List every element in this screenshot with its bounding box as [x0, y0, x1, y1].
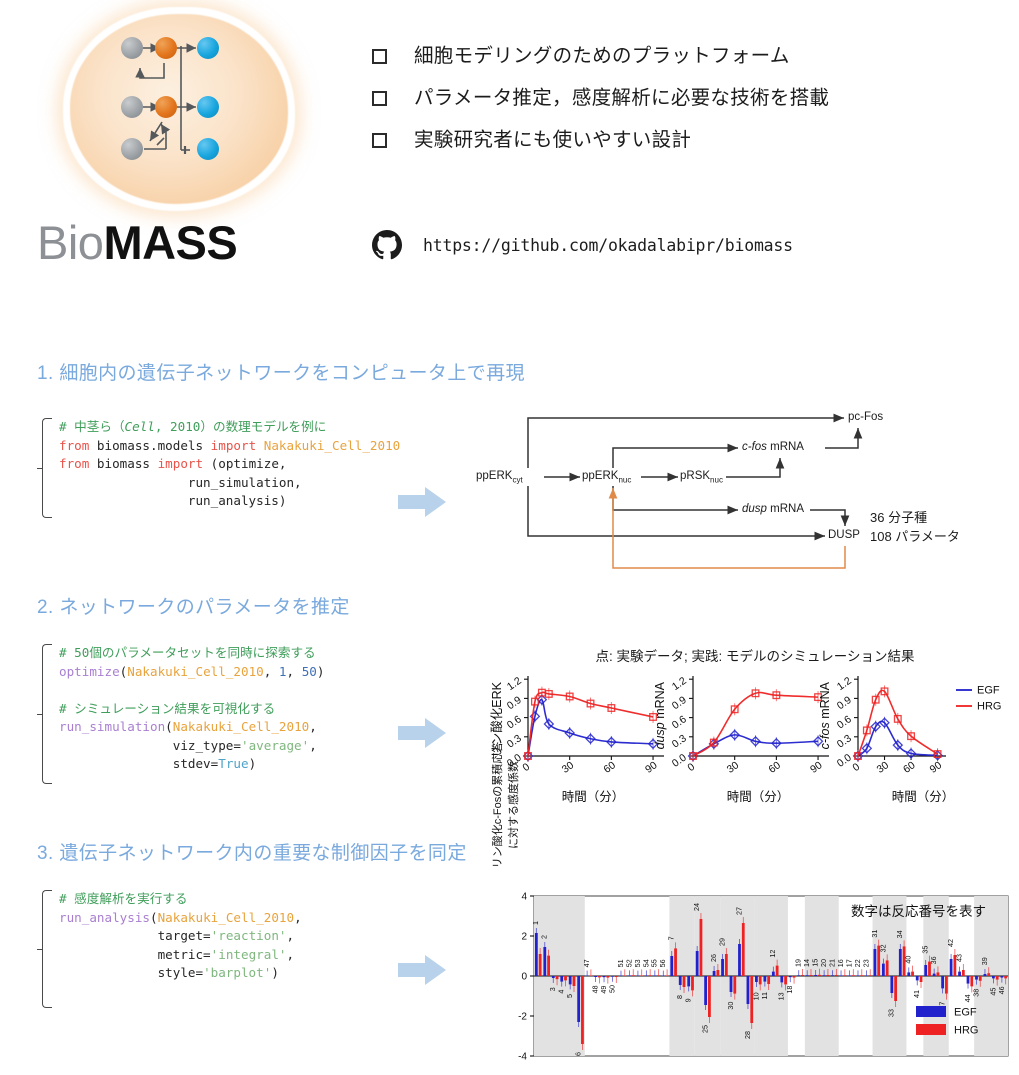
svg-text:7: 7 — [667, 936, 676, 940]
chart-dusp: dusp mRNA 0.00.30.60.91.20306090 時間（分） — [657, 668, 835, 808]
y-axis-label: dusp mRNA — [653, 682, 667, 768]
list-item: 実験研究者にも使いやすい設計 — [372, 126, 992, 168]
cell-network-icon — [62, 10, 297, 210]
svg-text:-4: -4 — [518, 1052, 527, 1063]
svg-text:60: 60 — [901, 759, 918, 776]
svg-text:29: 29 — [717, 938, 726, 946]
svg-text:11: 11 — [760, 992, 769, 999]
svg-text:40: 40 — [904, 956, 913, 964]
node-label-pperk-cyt: ppERKcyt — [476, 470, 523, 484]
code-block-section-2: # 50個のパラメータセットを同時に探索する optimize(Nakakuki… — [38, 644, 324, 784]
svg-text:1.2: 1.2 — [505, 675, 524, 693]
checkbox-square-icon — [372, 133, 387, 148]
network-edges — [62, 10, 297, 210]
checkbox-square-icon — [372, 91, 387, 106]
svg-text:41: 41 — [912, 990, 921, 998]
svg-text:27: 27 — [734, 907, 743, 915]
network-node-blue-2 — [197, 96, 219, 118]
svg-text:5: 5 — [565, 994, 574, 998]
svg-text:-2: -2 — [518, 1012, 527, 1023]
list-item: パラメータ推定，感度解析に必要な技術を搭載 — [372, 84, 992, 126]
svg-text:0.0: 0.0 — [670, 752, 689, 770]
svg-text:26: 26 — [709, 954, 718, 962]
github-icon — [372, 230, 402, 260]
biomass-logo: BioMASS — [35, 5, 335, 290]
svg-text:60: 60 — [601, 759, 618, 776]
svg-text:35: 35 — [921, 946, 930, 954]
network-node-blue-3 — [197, 138, 219, 160]
network-diagram-edges — [470, 396, 1015, 581]
code-brace-icon — [38, 418, 50, 518]
svg-text:90: 90 — [928, 759, 945, 776]
right-arrow-icon — [398, 718, 446, 748]
network-node-orange-1 — [155, 37, 177, 59]
code-brace-icon — [38, 644, 50, 784]
code-brace-icon — [38, 890, 50, 1008]
svg-text:30: 30 — [726, 1002, 735, 1010]
timecourse-plots-title: 点: 実験データ; 実践: モデルのシミュレーション結果 — [500, 645, 1010, 665]
svg-text:38: 38 — [971, 989, 980, 997]
code-block-section-3: # 感度解析を実行する run_analysis(Nakakuki_Cell_2… — [38, 890, 302, 1008]
svg-text:50: 50 — [607, 985, 616, 993]
svg-text:0.3: 0.3 — [835, 732, 854, 750]
svg-text:HRG: HRG — [954, 1025, 978, 1037]
svg-text:HRG: HRG — [977, 701, 1001, 713]
svg-text:1.2: 1.2 — [670, 675, 689, 693]
signaling-network-diagram: ppERKcyt ppERKnuc pRSKnuc c-fos mRNA dus… — [470, 396, 1015, 581]
svg-text:0: 0 — [850, 761, 862, 774]
right-arrow-icon — [398, 955, 446, 985]
x-axis-label: 時間（分） — [518, 786, 668, 805]
plot-area-cfos: 0.00.30.60.91.20306090EGFHRG — [822, 668, 1014, 784]
github-url-text[interactable]: https://github.com/okadalabipr/biomass — [423, 236, 793, 255]
svg-text:0.0: 0.0 — [835, 752, 854, 770]
y-axis-label: c-fos mRNA — [818, 682, 832, 768]
svg-text:EGF: EGF — [954, 1007, 977, 1019]
logo-wordmark: BioMASS — [37, 215, 317, 270]
svg-text:43: 43 — [954, 954, 963, 962]
svg-text:0.3: 0.3 — [670, 732, 689, 750]
right-arrow-icon — [398, 487, 446, 517]
bullet-label: 細胞モデリングのためのプラットフォーム — [414, 42, 790, 70]
svg-text:31: 31 — [870, 930, 879, 938]
svg-text:60: 60 — [766, 759, 783, 776]
svg-text:28: 28 — [743, 1031, 752, 1039]
svg-text:0.9: 0.9 — [670, 694, 689, 712]
header-banner: BioMASS 細胞モデリングのためのプラットフォーム パラメータ推定，感度解析… — [0, 0, 1019, 300]
network-node-blue-1 — [197, 37, 219, 59]
svg-text:2: 2 — [521, 932, 527, 943]
node-label-prsk-nuc: pRSKnuc — [680, 470, 723, 484]
code-block-section-1: # 中茎ら（Cell, 2010）の数理モデルを例に from biomass.… — [38, 418, 400, 518]
y-axis-label-line1: リン酸化c-Fosの累積応答 — [490, 720, 506, 890]
svg-text:39: 39 — [980, 957, 989, 965]
svg-text:32: 32 — [878, 944, 887, 952]
list-item: 細胞モデリングのためのプラットフォーム — [372, 42, 992, 84]
svg-text:0: 0 — [685, 761, 697, 774]
node-label-pperk-nuc: ppERKnuc — [582, 470, 631, 484]
svg-text:1.2: 1.2 — [835, 675, 854, 693]
svg-text:30: 30 — [725, 759, 742, 776]
svg-text:47: 47 — [582, 959, 591, 967]
svg-text:36: 36 — [929, 956, 938, 964]
svg-text:24: 24 — [692, 903, 701, 911]
y-axis-label-line2: に対する感度係数 — [506, 720, 522, 890]
chart-sensitivity: リン酸化c-Fosの累積応答 に対する感度係数 -4-2024123456474… — [488, 884, 1016, 1070]
node-label-dusp-mrna: dusp mRNA — [742, 503, 804, 515]
node-label-dusp-protein: DUSP — [828, 529, 860, 541]
network-node-gray-3 — [121, 138, 143, 160]
svg-text:1: 1 — [531, 921, 540, 925]
chart-annotation: 数字は反応番号を表す — [851, 900, 986, 920]
svg-text:6: 6 — [574, 1052, 583, 1056]
svg-text:18: 18 — [785, 986, 794, 994]
svg-text:42: 42 — [946, 939, 955, 947]
section-1-heading: 1. 細胞内の遺伝子ネットワークをコンピュータ上で再現 — [37, 358, 525, 385]
svg-text:33: 33 — [887, 1009, 896, 1017]
x-axis-label: 時間（分） — [683, 786, 833, 805]
bullet-label: パラメータ推定，感度解析に必要な技術を搭載 — [414, 84, 829, 112]
network-node-gray-2 — [121, 96, 143, 118]
checkbox-square-icon — [372, 49, 387, 64]
network-node-orange-2 — [155, 96, 177, 118]
svg-text:0.9: 0.9 — [835, 694, 854, 712]
plot-area-dusp: 0.00.30.60.91.20306090 — [657, 668, 835, 784]
svg-text:4: 4 — [521, 892, 527, 903]
y-axis-label: リン酸化c-Fosの累積応答 に対する感度係数 — [490, 720, 524, 890]
feature-bullet-list: 細胞モデリングのためのプラットフォーム パラメータ推定，感度解析に必要な技術を搭… — [372, 42, 992, 168]
network-node-gray-1 — [121, 37, 143, 59]
svg-text:46: 46 — [997, 986, 1006, 994]
model-size-annotation: 36 分子種 108 パラメータ — [870, 508, 960, 546]
node-label-cfos-mrna: c-fos mRNA — [742, 441, 804, 453]
svg-text:0.6: 0.6 — [835, 713, 854, 731]
x-axis-label: 時間（分） — [848, 786, 998, 805]
parameter-count: 108 パラメータ — [870, 527, 960, 546]
svg-text:EGF: EGF — [977, 685, 1000, 697]
svg-text:25: 25 — [701, 1025, 710, 1033]
chart-cfos: c-fos mRNA 0.00.30.60.91.20306090EGFHRG … — [822, 668, 1000, 808]
github-link-row[interactable]: https://github.com/okadalabipr/biomass — [372, 230, 793, 260]
svg-text:30: 30 — [875, 759, 892, 776]
code-text-section-1: # 中茎ら（Cell, 2010）の数理モデルを例に from biomass.… — [50, 418, 400, 518]
bullet-label: 実験研究者にも使いやすい設計 — [414, 126, 691, 154]
svg-text:0.9: 0.9 — [505, 694, 524, 712]
logo-mass-text: MASS — [103, 216, 237, 269]
molecule-count: 36 分子種 — [870, 508, 960, 527]
svg-text:0.6: 0.6 — [670, 713, 689, 731]
code-text-section-3: # 感度解析を実行する run_analysis(Nakakuki_Cell_2… — [50, 890, 302, 1008]
svg-text:9: 9 — [684, 998, 693, 1002]
svg-text:56: 56 — [658, 959, 667, 967]
svg-text:4: 4 — [557, 990, 566, 994]
svg-text:12: 12 — [768, 950, 777, 958]
section-3-heading: 3. 遺伝子ネットワーク内の重要な制御因子を同定 — [37, 838, 467, 865]
code-text-section-2: # 50個のパラメータセットを同時に探索する optimize(Nakakuki… — [50, 644, 324, 784]
svg-text:23: 23 — [861, 959, 870, 967]
section-2-heading: 2. ネットワークのパラメータを推定 — [37, 592, 350, 619]
svg-text:34: 34 — [895, 930, 904, 938]
logo-bio-text: Bio — [37, 216, 103, 269]
svg-text:2: 2 — [540, 935, 549, 939]
node-label-pc-fos: pc-Fos — [848, 411, 883, 423]
svg-text:0: 0 — [521, 972, 527, 983]
svg-text:30: 30 — [560, 759, 577, 776]
